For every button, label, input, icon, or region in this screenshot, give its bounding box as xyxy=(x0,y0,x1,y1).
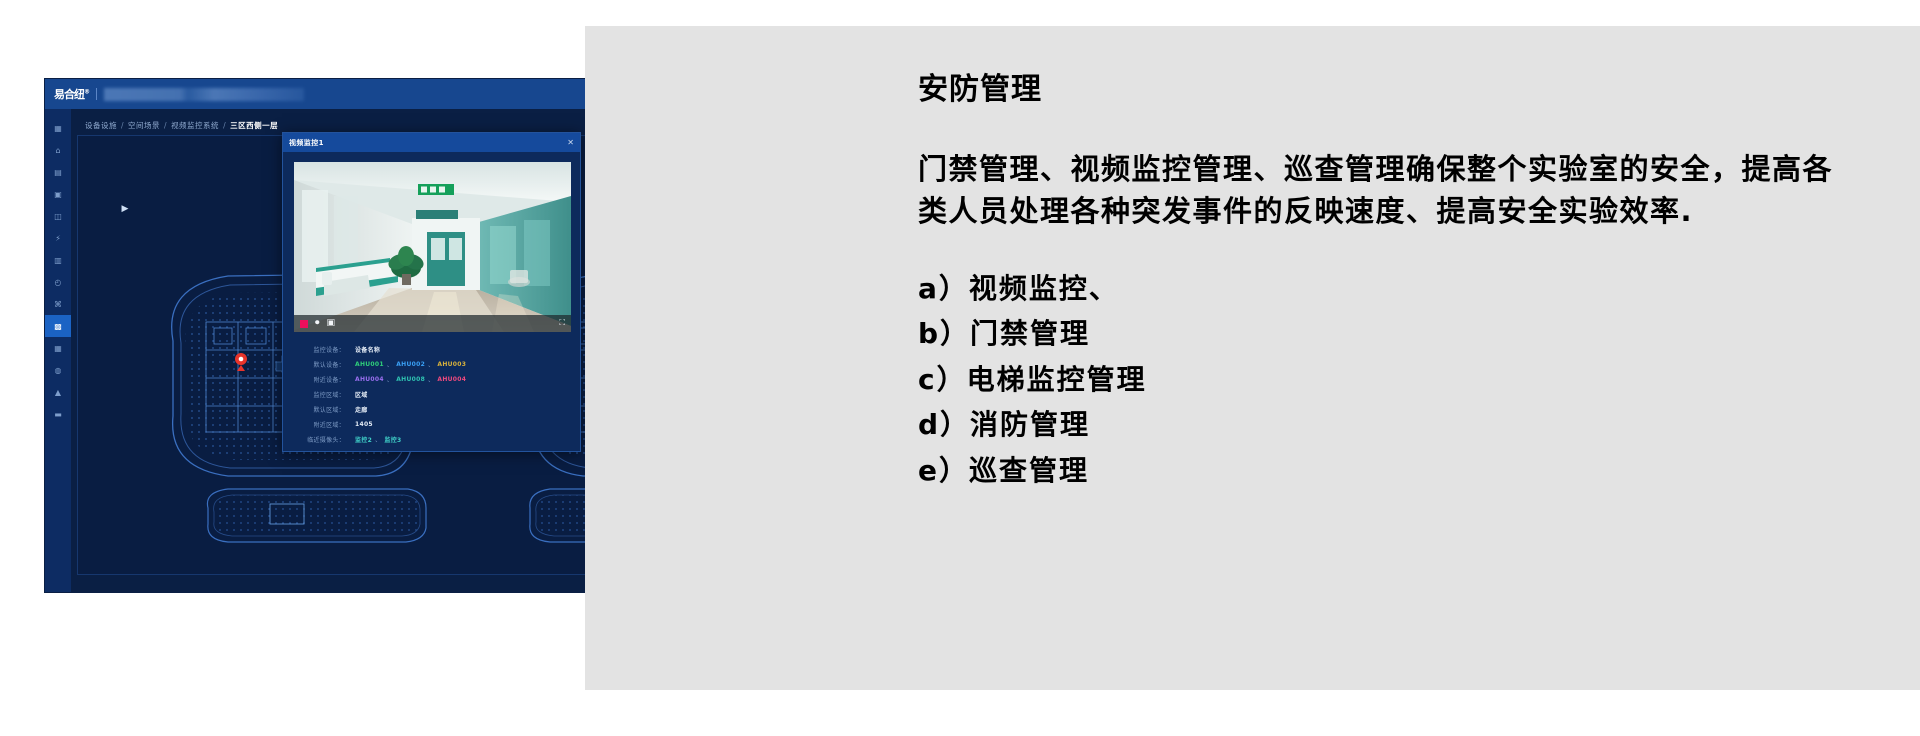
detail-label: 附近区域： xyxy=(297,420,355,429)
feature-list-item-a: a）视频监控、 xyxy=(918,266,1858,311)
detail-row: 默认区域： 走廊 xyxy=(297,402,569,417)
detail-label: 默认区域： xyxy=(297,405,355,414)
value-separator: 、 xyxy=(387,360,393,369)
fullscreen-icon[interactable]: ⛶ xyxy=(559,318,565,328)
detail-value[interactable]: AHU004 xyxy=(437,376,466,383)
dialog-title: 视频监控1 xyxy=(289,138,324,148)
detail-value[interactable]: 监控3 xyxy=(384,435,401,444)
breadcrumb: 设备设施 / 空间场景 / 视频监控系统 / 三区西侧一层 xyxy=(85,115,278,135)
sidebar-item-dashboard[interactable]: ▦ xyxy=(45,117,71,139)
sidebar-item-access[interactable]: ▦ xyxy=(45,337,71,359)
video-frame xyxy=(294,162,571,332)
detail-value: 设备名称 xyxy=(355,345,380,354)
detail-label: 监控设备： xyxy=(297,345,355,354)
detail-value[interactable]: AHU003 xyxy=(437,361,466,368)
video-monitor-dialog: 视频监控1 ✕ xyxy=(282,132,581,452)
detail-label: 监控区域： xyxy=(297,390,355,399)
snapshot-icon[interactable]: ⏺ xyxy=(315,319,320,328)
sidebar-item-alarm[interactable]: ⚡ xyxy=(45,227,71,249)
breadcrumb-item-1[interactable]: 空间场景 xyxy=(128,120,160,131)
video-player[interactable]: ⏺ ▣ ⛶ xyxy=(294,162,571,332)
sidebar-rail: ▦ ⌂ ▤ ▣ ◫ ⚡ ▥ ◴ ⌘ ▩ ▦ ◍ ▲ ▬ xyxy=(45,109,71,592)
sidebar-item-home[interactable]: ⌂ xyxy=(45,139,71,161)
feature-list-item-c: c）电梯监控管理 xyxy=(918,357,1858,402)
detail-label: 临近摄像头： xyxy=(297,435,355,444)
sidebar-item-analysis[interactable]: ◴ xyxy=(45,271,71,293)
dialog-titlebar: 视频监控1 ✕ xyxy=(283,133,580,152)
device-detail-table: 监控设备： 设备名称 默认设备： AHU001 、 AHU002 、 AHU00… xyxy=(297,342,569,447)
record-icon[interactable] xyxy=(300,320,308,328)
breadcrumb-item-2[interactable]: 视频监控系统 xyxy=(171,120,219,131)
close-icon[interactable]: ✕ xyxy=(567,139,574,147)
detail-row: 附近设备： AHU004 、 AHU008 、 AHU004 xyxy=(297,372,569,387)
detail-row: 监控设备： 设备名称 xyxy=(297,342,569,357)
sidebar-item-video-monitor[interactable]: ▩ xyxy=(45,315,71,337)
value-separator: 、 xyxy=(375,435,381,444)
sidebar-item-device[interactable]: ▣ xyxy=(45,183,71,205)
detail-value[interactable]: AHU001 xyxy=(355,361,384,368)
detail-row: 附近区域： 1405 xyxy=(297,417,569,432)
brand-name: 易合纽 xyxy=(54,88,84,101)
video-camera-icon[interactable]: ▣ xyxy=(327,319,336,328)
detail-value: 区域 xyxy=(355,390,368,399)
value-separator: 、 xyxy=(428,375,434,384)
breadcrumb-separator: / xyxy=(164,121,167,130)
feature-list-item-b: b）门禁管理 xyxy=(918,311,1858,356)
sidebar-item-settings[interactable]: ▬ xyxy=(45,403,71,425)
brand-trademark: ® xyxy=(84,88,89,95)
sidebar-item-patrol[interactable]: ◍ xyxy=(45,359,71,381)
sidebar-item-report[interactable]: ▥ xyxy=(45,249,71,271)
breadcrumb-item-current: 三区西侧一层 xyxy=(230,120,278,131)
feature-list-item-e: e）巡查管理 xyxy=(918,448,1858,493)
breadcrumb-item-0[interactable]: 设备设施 xyxy=(85,120,117,131)
sidebar-item-energy[interactable]: ◫ xyxy=(45,205,71,227)
header-divider xyxy=(96,88,97,100)
system-name-blurred xyxy=(104,88,304,101)
sidebar-item-fire[interactable]: ▲ xyxy=(45,381,71,403)
detail-row: 默认设备： AHU001 、 AHU002 、 AHU003 xyxy=(297,357,569,372)
value-separator: 、 xyxy=(387,375,393,384)
detail-row: 临近摄像头： 监控2 、 监控3 xyxy=(297,432,569,447)
detail-row: 监控区域： 区域 xyxy=(297,387,569,402)
video-toolbar: ⏺ ▣ xyxy=(294,315,571,332)
breadcrumb-separator: / xyxy=(223,121,226,130)
detail-value[interactable]: AHU004 xyxy=(355,376,384,383)
detail-value[interactable]: AHU002 xyxy=(396,361,425,368)
value-separator: 、 xyxy=(428,360,434,369)
detail-value[interactable]: AHU008 xyxy=(396,376,425,383)
play-button[interactable]: ▶ xyxy=(114,198,136,220)
detail-value: 1405 xyxy=(355,421,373,428)
page-title: 安防管理 xyxy=(918,72,1858,108)
detail-label: 默认设备： xyxy=(297,360,355,369)
sidebar-item-building[interactable]: ▤ xyxy=(45,161,71,183)
sidebar-item-space[interactable]: ⌘ xyxy=(45,293,71,315)
detail-label: 附近设备： xyxy=(297,375,355,384)
detail-value: 走廊 xyxy=(355,405,368,414)
breadcrumb-separator: / xyxy=(121,121,124,130)
detail-value[interactable]: 监控2 xyxy=(355,435,372,444)
brand-logo: 易合纽® xyxy=(54,86,89,102)
feature-list-item-d: d）消防管理 xyxy=(918,402,1858,447)
description-paragraph: 门禁管理、视频监控管理、巡查管理确保整个实验室的安全，提高各类人员处理各种突发事… xyxy=(918,148,1838,232)
description-text-column: 安防管理 门禁管理、视频监控管理、巡查管理确保整个实验室的安全，提高各类人员处理… xyxy=(918,72,1858,493)
